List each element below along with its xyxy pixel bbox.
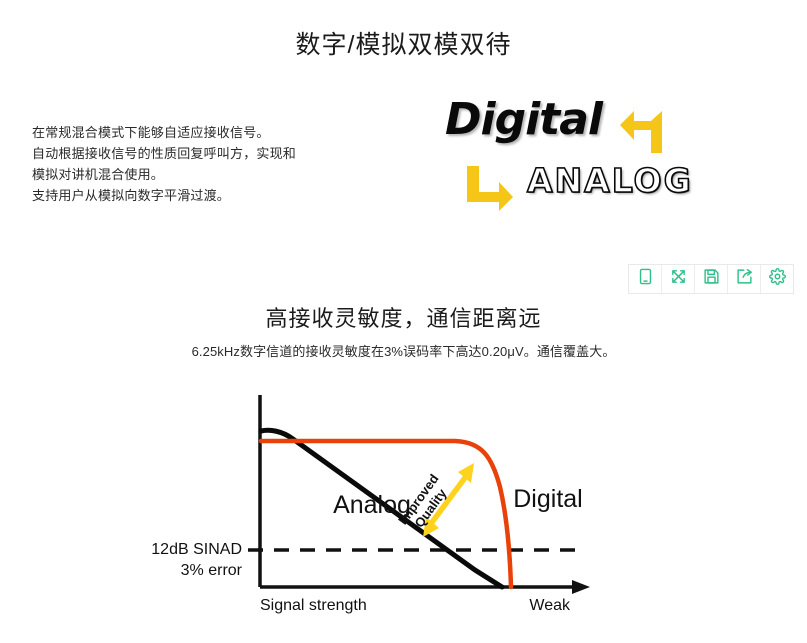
x-axis-label-right: Weak [529, 597, 571, 614]
intro-line: 自动根据接收信号的性质回复呼叫方，实现和 [32, 143, 342, 164]
mobile-preview-icon [637, 268, 654, 290]
gear-icon [769, 268, 786, 290]
section-title: 高接收灵敏度，通信距离远 [0, 301, 807, 333]
intro-line: 在常规混合模式下能够自适应接收信号。 [32, 122, 342, 143]
chart-svg: Improved Quality Analog Digital 12dB SIN… [130, 395, 650, 630]
arrow-down-right-icon [465, 164, 515, 217]
page-title: 数字/模拟双模双待 [0, 30, 807, 60]
intro-line: 模拟对讲机混合使用。 [32, 164, 342, 185]
analog-series-label: Analog [333, 491, 411, 519]
arrow-up-left-icon [618, 109, 664, 162]
settings-button[interactable] [761, 265, 793, 293]
fullscreen-button[interactable] [662, 265, 695, 293]
quality-vs-signal-chart: Improved Quality Analog Digital 12dB SIN… [130, 395, 650, 630]
digital-wordmark: Digital [445, 98, 602, 142]
intro-line: 支持用户从模拟向数字平滑过渡。 [32, 185, 342, 206]
save-icon [703, 268, 720, 290]
digital-series-label: Digital [513, 485, 582, 513]
save-button[interactable] [695, 265, 728, 293]
digital-analog-artwork: Digital ANALOG [437, 98, 777, 220]
x-axis-label-left: Signal strength [260, 597, 367, 614]
intro-copy: 在常规混合模式下能够自适应接收信号。 自动根据接收信号的性质回复呼叫方，实现和 … [32, 122, 342, 206]
share-button[interactable] [728, 265, 761, 293]
x-axis-arrowhead [572, 580, 590, 594]
fullscreen-icon [670, 268, 687, 290]
share-icon [736, 268, 753, 290]
editor-toolbar[interactable] [628, 264, 794, 294]
section-subtitle: 6.25kHz数字信道的接收灵敏度在3%误码率下高达0.20μV。通信覆盖大。 [0, 341, 807, 360]
analog-wordmark: ANALOG [527, 164, 693, 197]
mobile-preview-button[interactable] [629, 265, 662, 293]
threshold-label-line2: 3% error [181, 562, 243, 579]
threshold-label-line1: 12dB SINAD [151, 541, 242, 558]
